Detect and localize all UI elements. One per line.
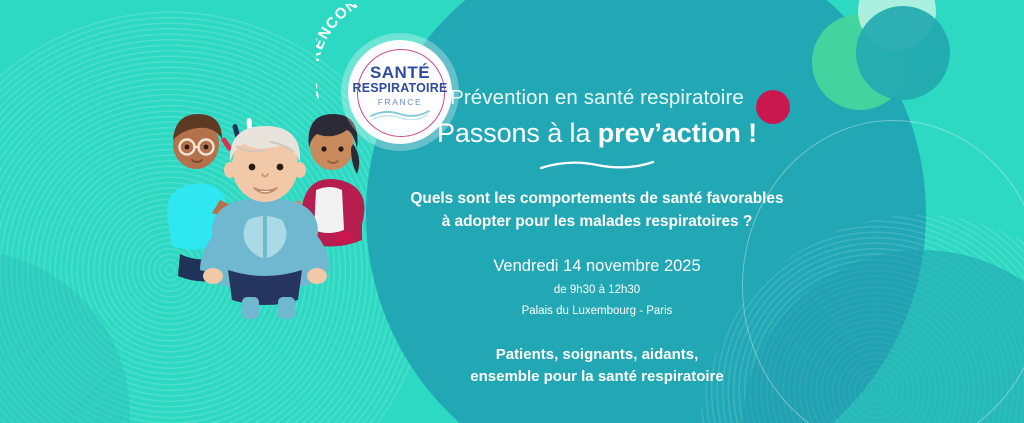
event-banner: 18es RENCONTRES SANTÉ RESPIRATOIRE FRANC… [0,0,1024,423]
question-text: Quels sont les comportements de santé fa… [390,188,804,233]
arc-number: 18 [316,80,323,101]
event-location: Palais du Luxembourg - Paris [390,305,804,319]
kicker-text: Prévention en santé respiratoire [390,86,804,111]
headline: Passons à la prev’action ! [390,117,804,151]
tagline: Patients, soignants, aidants, ensemble p… [390,344,804,389]
teal-arc-left-decoration [0,250,130,423]
event-details: Vendredi 14 novembre 2025 de 9h30 à 12h3… [390,257,804,318]
headline-light-part: Passons à la [437,118,598,148]
tagline-line-2: ensemble pour la santé respiratoire [390,366,804,389]
characters-illustration [150,104,380,319]
banner-copy: Prévention en santé respiratoire Passons… [390,86,804,389]
logo-line-sante: SANTÉ [370,64,430,81]
question-line-2: à adopter pour les malades respiratoires… [390,211,804,233]
headline-end-part: ! [741,118,757,148]
event-date: Vendredi 14 novembre 2025 [390,257,804,277]
tagline-line-1: Patients, soignants, aidants, [390,344,804,367]
teal-circle-decoration [856,6,950,100]
event-time: de 9h30 à 12h30 [390,284,804,298]
character-older-man-center [200,126,330,319]
wave-divider-icon [537,159,657,173]
headline-bold-part: prev’action [598,118,741,148]
question-line-1: Quels sont les comportements de santé fa… [390,188,804,210]
